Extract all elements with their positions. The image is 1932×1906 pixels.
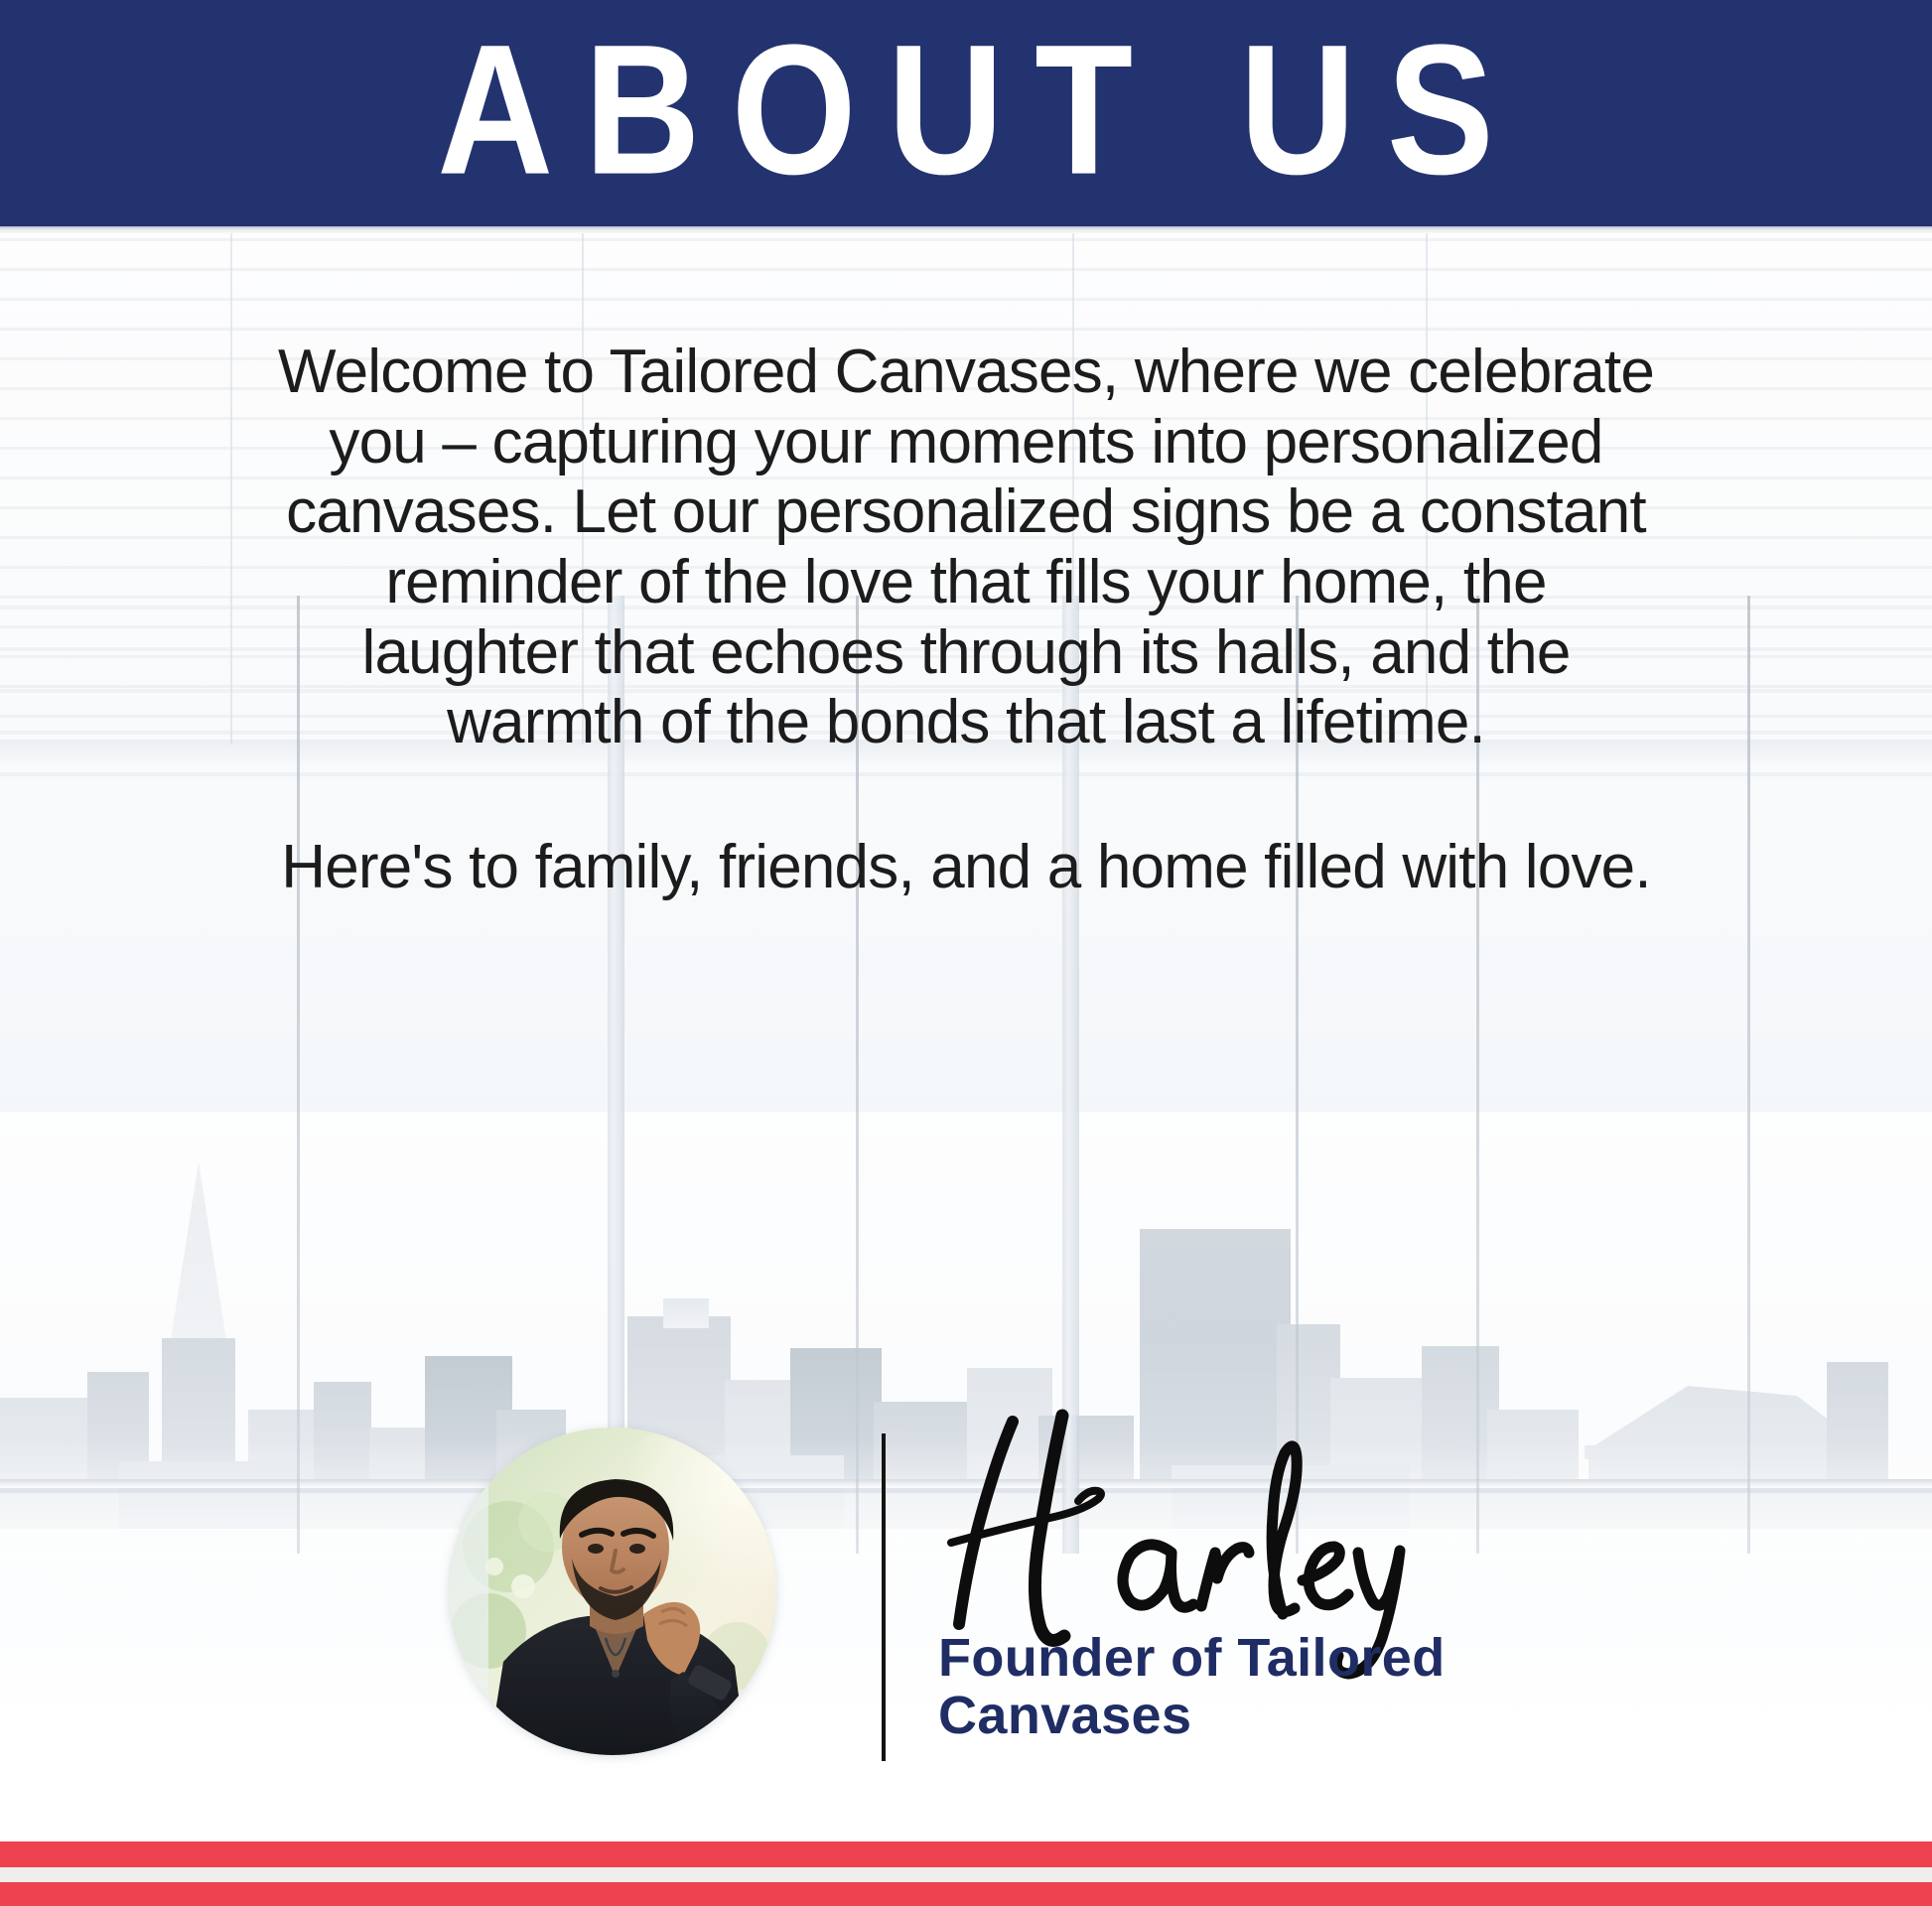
avatar bbox=[449, 1428, 776, 1755]
about-paragraph-1: Welcome to Tailored Canvases, where we c… bbox=[271, 338, 1661, 758]
about-us-poster: ABOUT US Welcome to Tailored Canvases, w… bbox=[0, 0, 1932, 1906]
founder-signature-block: Founder of Tailored Canvases bbox=[0, 1408, 1932, 1805]
window-frame-vertical bbox=[230, 189, 232, 745]
about-us-body: Welcome to Tailored Canvases, where we c… bbox=[271, 338, 1661, 903]
footer-stripe-gap bbox=[0, 1867, 1932, 1882]
header-banner: ABOUT US bbox=[0, 0, 1932, 226]
footer-stripe-lower bbox=[0, 1882, 1932, 1906]
page-title: ABOUT US bbox=[406, 18, 1525, 204]
founder-role-line-1: Founder of Tailored bbox=[938, 1630, 1554, 1688]
founder-role-line-2: Canvases bbox=[938, 1688, 1554, 1745]
header-underline-divider bbox=[0, 226, 1932, 233]
about-paragraph-2: Here's to family, friends, and a home fi… bbox=[271, 833, 1661, 903]
founder-role: Founder of Tailored Canvases bbox=[938, 1630, 1554, 1745]
footer-stripe-upper bbox=[0, 1841, 1932, 1867]
